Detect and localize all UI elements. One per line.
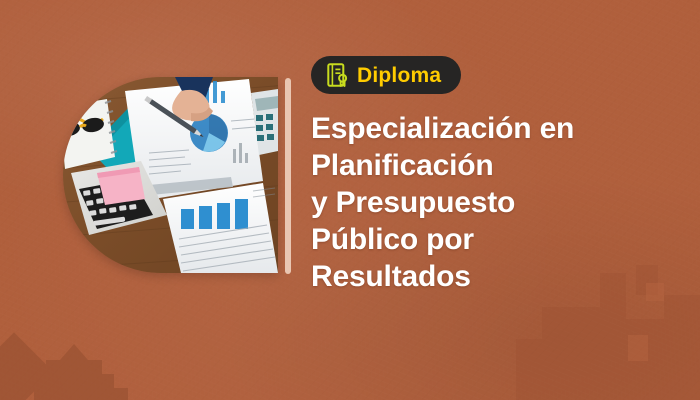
title-line-2: Planificación xyxy=(311,147,681,184)
diploma-badge: Diploma xyxy=(311,56,461,94)
diploma-badge-label: Diploma xyxy=(357,65,441,86)
skyline-silhouette-left xyxy=(0,282,216,400)
photo-illustration xyxy=(63,77,278,273)
accent-divider xyxy=(285,78,291,274)
course-banner: Diploma Especialización en Planificación… xyxy=(0,0,700,400)
course-title: Especialización en Planificación y Presu… xyxy=(311,110,681,295)
diploma-certificate-icon xyxy=(327,63,349,87)
title-line-5: Resultados xyxy=(311,258,681,295)
title-line-4: Público por xyxy=(311,221,681,258)
title-line-1: Especialización en xyxy=(311,110,681,147)
course-photo xyxy=(63,77,278,273)
title-line-3: y Presupuesto xyxy=(311,184,681,221)
content-column: Diploma Especialización en Planificación… xyxy=(311,56,681,295)
